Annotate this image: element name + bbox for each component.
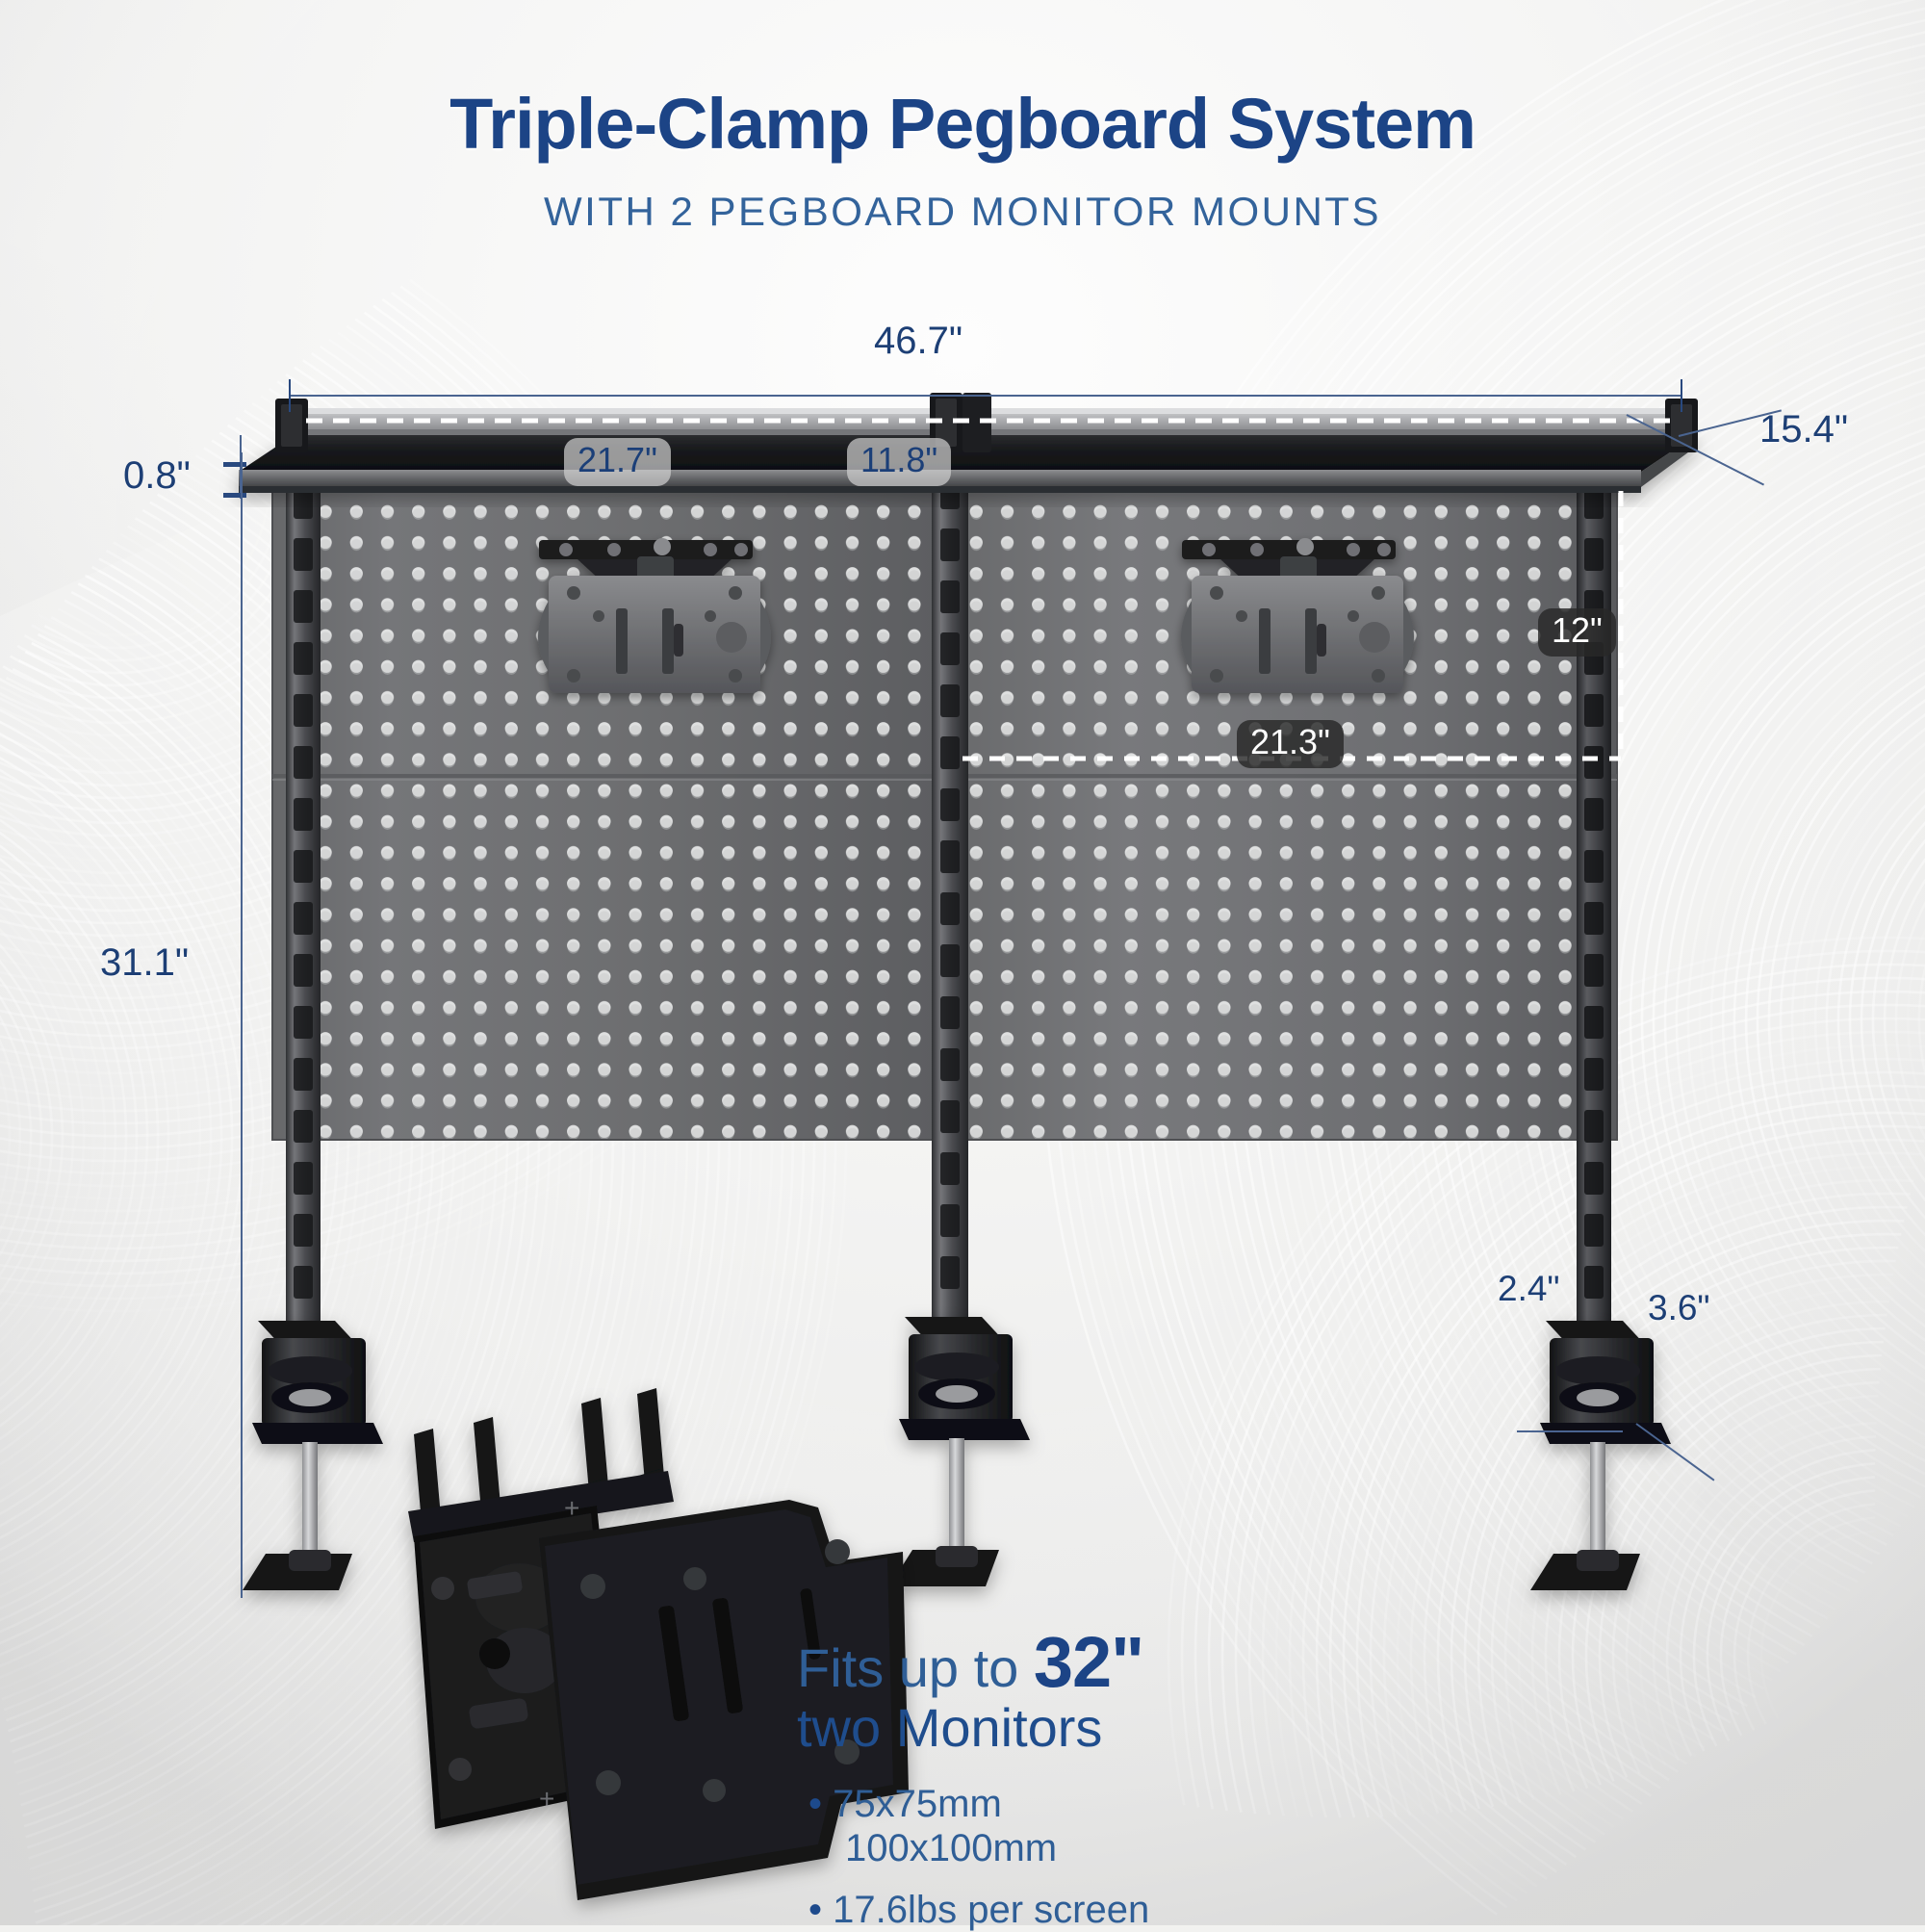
desk-clamp-middle xyxy=(889,1317,1030,1586)
desk-clamp-left xyxy=(243,1321,383,1590)
feature-bullet-vesa: • 75x75mm xyxy=(808,1783,1002,1826)
feature-bullet-vesa-line2: 100x100mm xyxy=(845,1827,1057,1870)
dimension-overall-width: 46.7" xyxy=(874,320,962,363)
feature-bullet-weight: • 17.6lbs per screen xyxy=(808,1889,1149,1932)
fits-size: 32" xyxy=(1034,1622,1143,1702)
tick-overall-left xyxy=(289,379,291,412)
dimension-depth: 15.4" xyxy=(1759,408,1848,451)
dimension-panel-b-width: 21.3" xyxy=(1237,720,1344,768)
guide-overall-height xyxy=(241,452,243,1598)
support-post-left xyxy=(286,435,321,1332)
support-post-middle xyxy=(932,424,968,1328)
svg-text:+: + xyxy=(564,1493,579,1523)
feature-bullet-weight-label: 17.6lbs per screen xyxy=(833,1889,1149,1931)
fits-headline-line2: two Monitors xyxy=(797,1696,1102,1759)
support-post-right xyxy=(1577,435,1611,1332)
tick-thickness-top xyxy=(223,462,246,467)
dimension-clamp-opening: 2.4" xyxy=(1498,1269,1560,1309)
dimension-overall-height: 31.1" xyxy=(100,941,189,985)
dimension-mount-zone-height: 12" xyxy=(1538,608,1616,657)
dimension-shelf-thickness: 0.8" xyxy=(123,454,191,498)
guide-clamp-opening xyxy=(1517,1430,1623,1432)
bullet-glyph-2: • xyxy=(808,1889,822,1931)
tick-overall-right xyxy=(1681,379,1682,412)
desk-clamp-right xyxy=(1530,1321,1671,1590)
dimension-gap-width: 11.8" xyxy=(847,438,951,486)
dimension-panel-a-width: 21.7" xyxy=(564,438,671,486)
fits-headline: Fits up to 32" xyxy=(797,1621,1143,1703)
svg-text:+: + xyxy=(539,1784,554,1814)
guide-overall-width xyxy=(289,395,1682,397)
fits-prefix: Fits up to xyxy=(797,1637,1034,1698)
tick-thickness-bottom xyxy=(223,493,246,498)
feature-bullet-vesa-line1: 75x75mm xyxy=(833,1783,1002,1825)
dimension-clamp-depth: 3.6" xyxy=(1648,1288,1710,1328)
bullet-glyph-1: • xyxy=(808,1783,822,1825)
